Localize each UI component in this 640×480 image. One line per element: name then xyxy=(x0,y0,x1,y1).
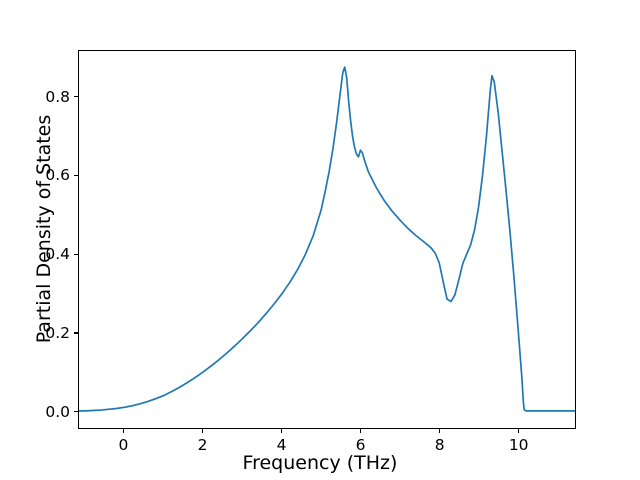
y-tick-mark xyxy=(74,411,78,412)
y-tick-mark xyxy=(74,96,78,97)
x-tick-mark xyxy=(518,429,519,433)
y-tick-mark xyxy=(74,332,78,333)
x-tick-mark xyxy=(281,429,282,433)
y-tick-mark xyxy=(74,175,78,176)
plot-axes xyxy=(78,50,576,429)
x-tick-mark xyxy=(360,429,361,433)
pdos-curve xyxy=(79,67,575,411)
y-tick-mark xyxy=(74,254,78,255)
y-axis-label: Partial Density of States xyxy=(33,89,55,369)
pdos-line-chart xyxy=(79,51,575,428)
x-tick-mark xyxy=(439,429,440,433)
y-tick-label: 0.0 xyxy=(28,403,70,421)
x-tick-mark xyxy=(123,429,124,433)
x-axis-label: Frequency (THz) xyxy=(0,452,640,474)
figure: 0246810 0.00.20.40.60.8 Frequency (THz) … xyxy=(0,0,640,480)
x-tick-mark xyxy=(202,429,203,433)
